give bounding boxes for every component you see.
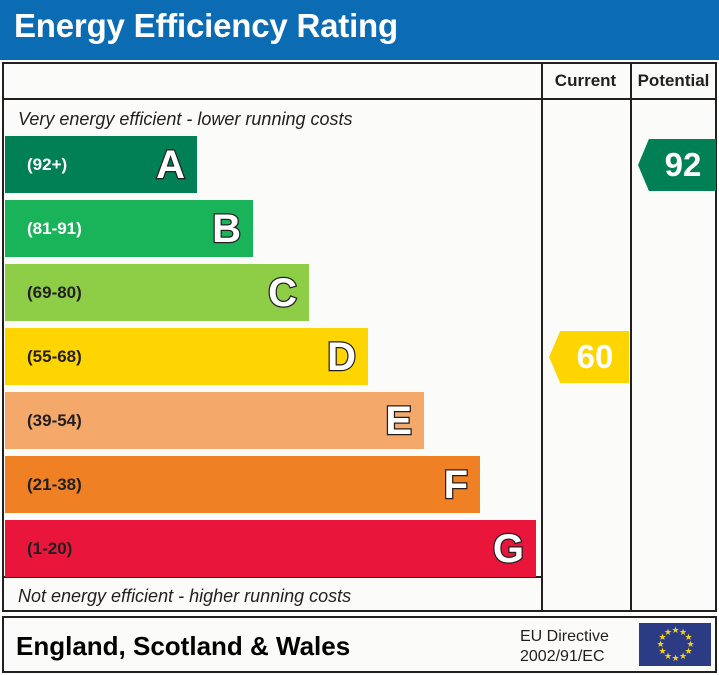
footer-region-label: England, Scotland & Wales <box>16 631 350 662</box>
rating-band-b: (81-91)B <box>5 200 253 257</box>
column-header-potential: Potential <box>630 71 717 91</box>
rating-band-e: (39-54)E <box>5 392 424 449</box>
band-range-f: (21-38) <box>27 475 82 495</box>
footer-directive: EU Directive 2002/91/EC <box>520 627 630 667</box>
rating-band-g: (1-20)G <box>5 520 536 577</box>
eu-star-icon: ★ <box>664 629 671 636</box>
band-letter-e: E <box>385 401 412 441</box>
potential-column-divider <box>630 64 632 610</box>
current-rating-marker: 60 <box>549 331 629 383</box>
title-banner: Energy Efficiency Rating <box>0 0 719 60</box>
rating-band-a: (92+)A <box>5 136 197 193</box>
band-letter-c: C <box>268 273 297 313</box>
eu-flag-icon: ★★★★★★★★★★★★ <box>638 622 712 667</box>
band-letter-d: D <box>327 337 356 377</box>
band-range-g: (1-20) <box>27 539 72 559</box>
rating-chart: Current Potential Very energy efficient … <box>2 62 717 612</box>
current-rating-value: 60 <box>565 338 614 376</box>
eu-star-icon: ★ <box>659 648 666 655</box>
eu-star-icon: ★ <box>672 627 679 634</box>
eu-star-icon: ★ <box>672 655 679 662</box>
column-header-current: Current <box>541 71 630 91</box>
caption-efficient: Very energy efficient - lower running co… <box>18 109 353 130</box>
potential-rating-marker: 92 <box>638 139 716 191</box>
epc-certificate: Energy Efficiency Rating Current Potenti… <box>0 0 719 675</box>
eu-star-icon: ★ <box>657 641 664 648</box>
band-range-e: (39-54) <box>27 411 82 431</box>
header-divider <box>4 98 715 100</box>
rating-band-c: (69-80)C <box>5 264 309 321</box>
band-letter-a: A <box>156 145 185 185</box>
caption-inefficient: Not energy efficient - higher running co… <box>18 586 351 607</box>
rating-band-f: (21-38)F <box>5 456 480 513</box>
band-range-d: (55-68) <box>27 347 82 367</box>
band-range-c: (69-80) <box>27 283 82 303</box>
potential-rating-value: 92 <box>653 146 702 184</box>
band-letter-b: B <box>212 209 241 249</box>
footer: England, Scotland & Wales EU Directive 2… <box>2 616 717 673</box>
band-letter-f: F <box>444 465 468 505</box>
directive-line-1: EU Directive <box>520 627 630 647</box>
directive-line-2: 2002/91/EC <box>520 647 630 667</box>
rating-band-d: (55-68)D <box>5 328 368 385</box>
band-letter-g: G <box>493 529 524 569</box>
band-range-b: (81-91) <box>27 219 82 239</box>
band-range-a: (92+) <box>27 155 67 175</box>
eu-star-icon: ★ <box>679 653 686 660</box>
page-title: Energy Efficiency Rating <box>14 7 398 45</box>
current-column-divider <box>541 64 543 610</box>
